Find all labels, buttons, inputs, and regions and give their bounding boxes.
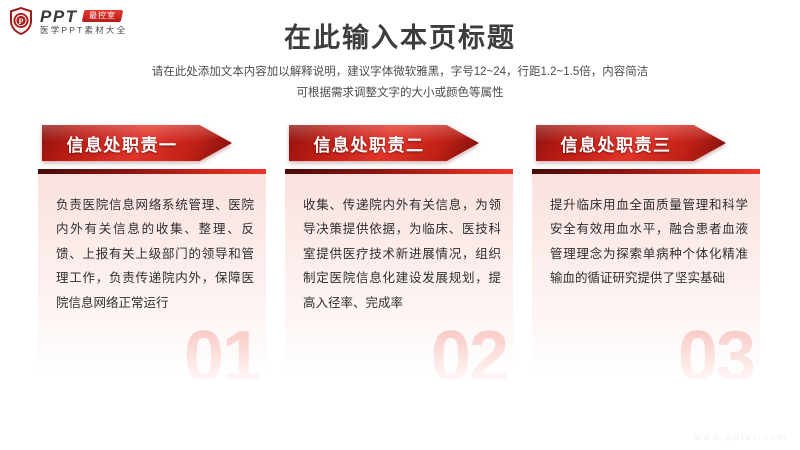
card-1-topbar xyxy=(38,169,266,174)
card-2-text: 收集、传递院内外有关信息，为领导决策提供依据，为临床、医技科室提供医疗技术新进展… xyxy=(303,193,501,315)
info-card-1[interactable]: 信息处职责一 01 负责医院信息网络系统管理、医院内外有关信息的收集、整理、反馈… xyxy=(38,125,266,380)
card-1-number-watermark: 01 xyxy=(184,321,260,379)
card-3-text: 提升临床用血全面质量管理和科学安全有效用血水平，融合患者血液管理理念为探索单病种… xyxy=(550,193,748,291)
card-1-banner[interactable]: 信息处职责一 xyxy=(42,125,232,161)
card-2-number-watermark: 02 xyxy=(431,321,507,379)
card-2-body: 02 收集、传递院内外有关信息，为领导决策提供依据，为临床、医技科室提供医疗技术… xyxy=(285,169,513,379)
card-1-text: 负责医院信息网络系统管理、医院内外有关信息的收集、整理、反馈、上报有关上级部门的… xyxy=(56,193,254,315)
card-3-banner-label: 信息处职责三 xyxy=(536,125,696,161)
page-title: 在此输入本页标题 xyxy=(0,16,800,55)
card-row: 信息处职责一 01 负责医院信息网络系统管理、医院内外有关信息的收集、整理、反馈… xyxy=(0,125,800,385)
info-card-3[interactable]: 信息处职责三 03 提升临床用血全面质量管理和科学安全有效用血水平，融合患者血液… xyxy=(532,125,760,380)
card-2-banner-label: 信息处职责二 xyxy=(289,125,449,161)
card-3-topbar xyxy=(532,169,760,174)
card-3-banner[interactable]: 信息处职责三 xyxy=(536,125,726,161)
card-2-banner[interactable]: 信息处职责二 xyxy=(289,125,479,161)
card-1-banner-label: 信息处职责一 xyxy=(42,125,202,161)
card-3-body: 03 提升临床用血全面质量管理和科学安全有效用血水平，融合患者血液管理理念为探索… xyxy=(532,169,760,379)
card-2-topbar xyxy=(285,169,513,174)
footer-watermark: www.ppter.com xyxy=(694,432,788,442)
info-card-2[interactable]: 信息处职责二 02 收集、传递院内外有关信息，为领导决策提供依据，为临床、医技科… xyxy=(285,125,513,380)
page-subtitle-line-1: 请在此处添加文本内容加以解释说明，建议字体微软雅黑，字号12~24，行距1.2~… xyxy=(0,62,800,83)
page-subtitle: 请在此处添加文本内容加以解释说明，建议字体微软雅黑，字号12~24，行距1.2~… xyxy=(0,62,800,105)
card-3-number-watermark: 03 xyxy=(678,321,754,379)
page-subtitle-line-2: 可根据需求调整文字的大小或颜色等属性 xyxy=(0,83,800,104)
card-1-body: 01 负责医院信息网络系统管理、医院内外有关信息的收集、整理、反馈、上报有关上级… xyxy=(38,169,266,379)
